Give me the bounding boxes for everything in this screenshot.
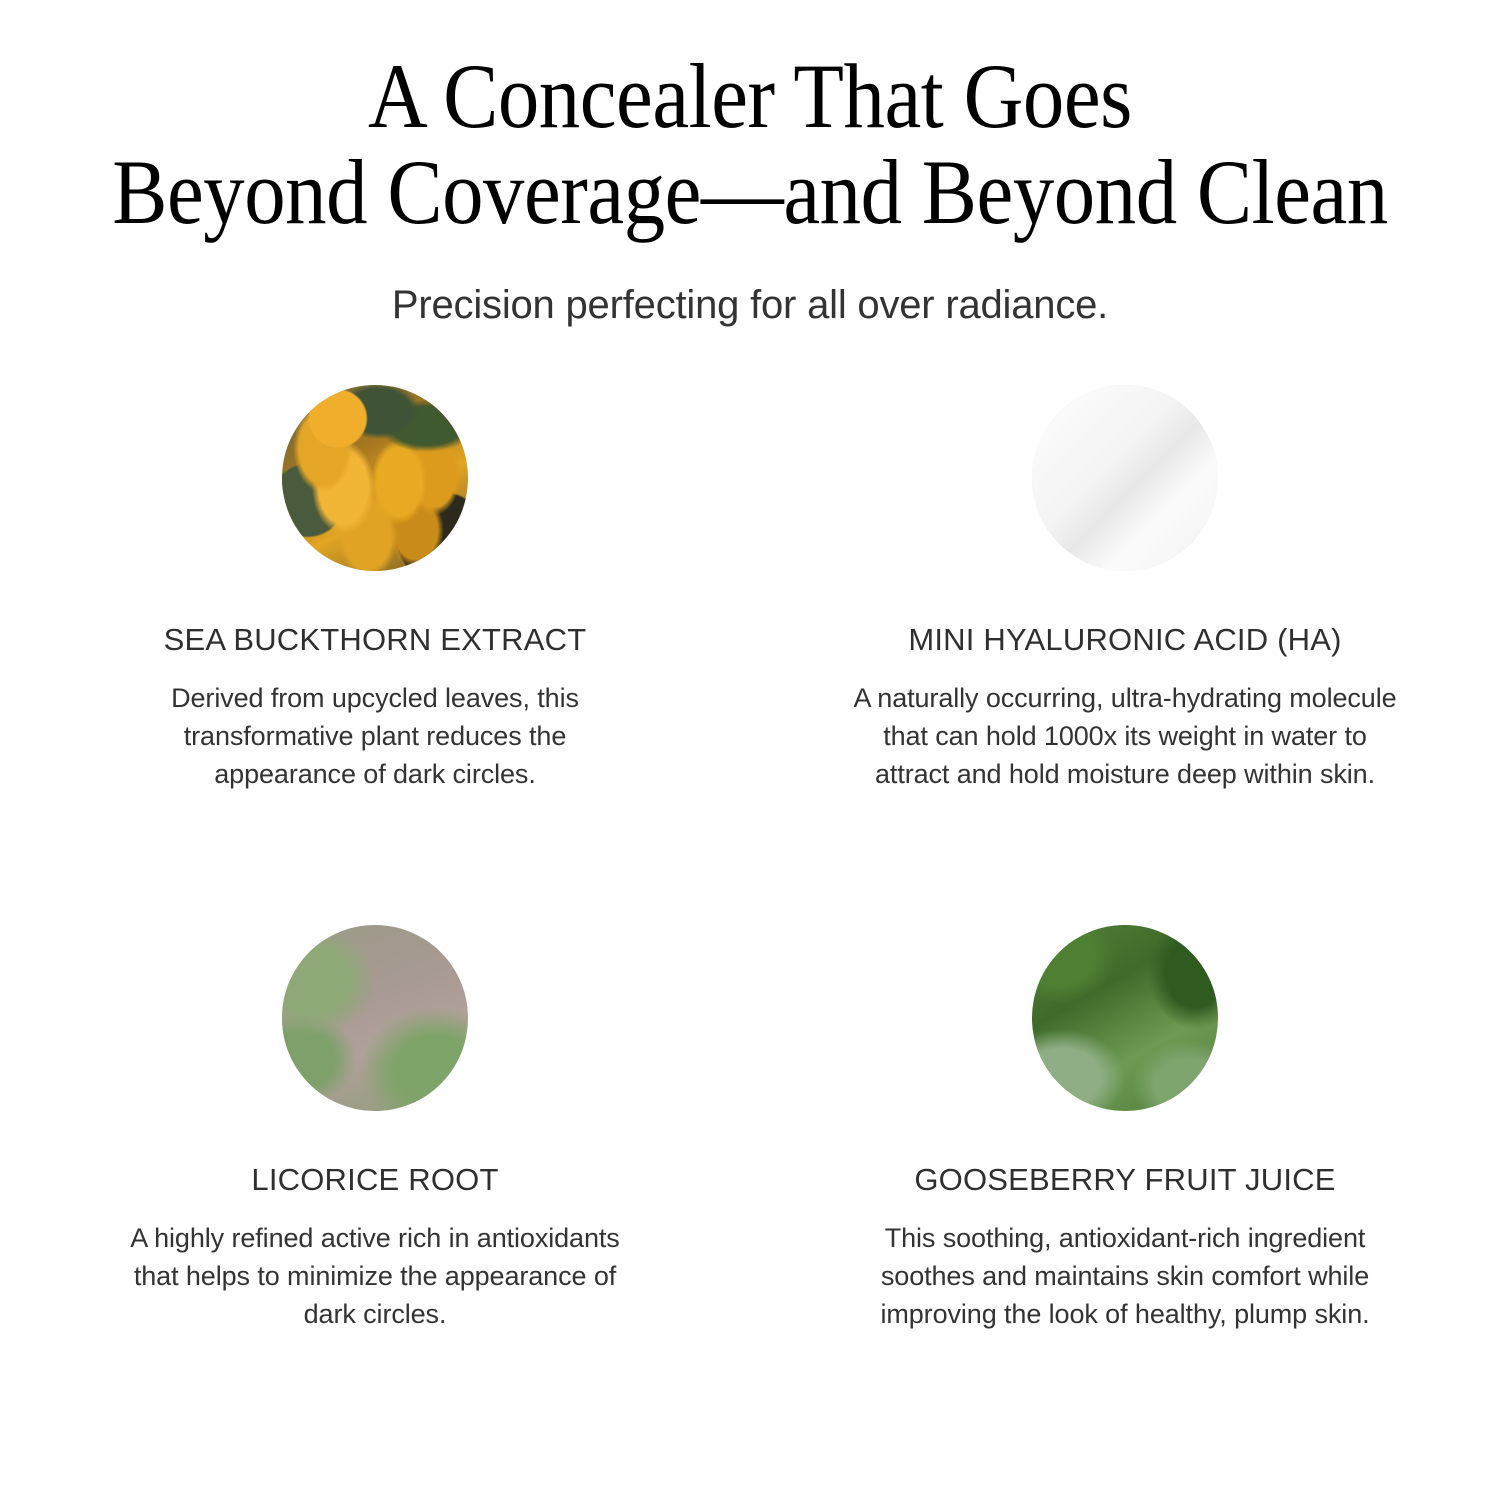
page-subtitle: Precision perfecting for all over radian…	[0, 282, 1500, 328]
ingredient-card-licorice-root: LICORICE ROOT A highly refined active ri…	[0, 925, 750, 1465]
ingredient-grid: SEA BUCKTHORN EXTRACT Derived from upcyc…	[0, 385, 1500, 1465]
ingredient-title: LICORICE ROOT	[251, 1163, 498, 1197]
ingredient-description: A highly refined active rich in antioxid…	[130, 1219, 620, 1333]
ingredient-title: SEA BUCKTHORN EXTRACT	[164, 623, 587, 657]
sea-buckthorn-image	[282, 385, 468, 571]
ingredient-description: A naturally occurring, ultra-hydrating m…	[845, 679, 1405, 793]
ingredient-card-gooseberry: GOOSEBERRY FRUIT JUICE This soothing, an…	[750, 925, 1500, 1465]
ingredient-description: This soothing, antioxidant-rich ingredie…	[845, 1219, 1405, 1333]
ingredient-title: GOOSEBERRY FRUIT JUICE	[914, 1163, 1335, 1197]
gooseberry-image	[1032, 925, 1218, 1111]
ingredient-benefits-page: A Concealer That Goes Beyond Coverage—an…	[0, 0, 1500, 1500]
ingredient-card-hyaluronic-acid: MINI HYALURONIC ACID (HA) A naturally oc…	[750, 385, 1500, 925]
page-header: A Concealer That Goes Beyond Coverage—an…	[0, 48, 1500, 328]
ingredient-card-sea-buckthorn: SEA BUCKTHORN EXTRACT Derived from upcyc…	[0, 385, 750, 925]
licorice-root-image	[282, 925, 468, 1111]
page-title: A Concealer That Goes Beyond Coverage—an…	[75, 48, 1425, 240]
hyaluronic-acid-image	[1032, 385, 1218, 571]
ingredient-title: MINI HYALURONIC ACID (HA)	[908, 623, 1341, 657]
ingredient-description: Derived from upcycled leaves, this trans…	[130, 679, 620, 793]
